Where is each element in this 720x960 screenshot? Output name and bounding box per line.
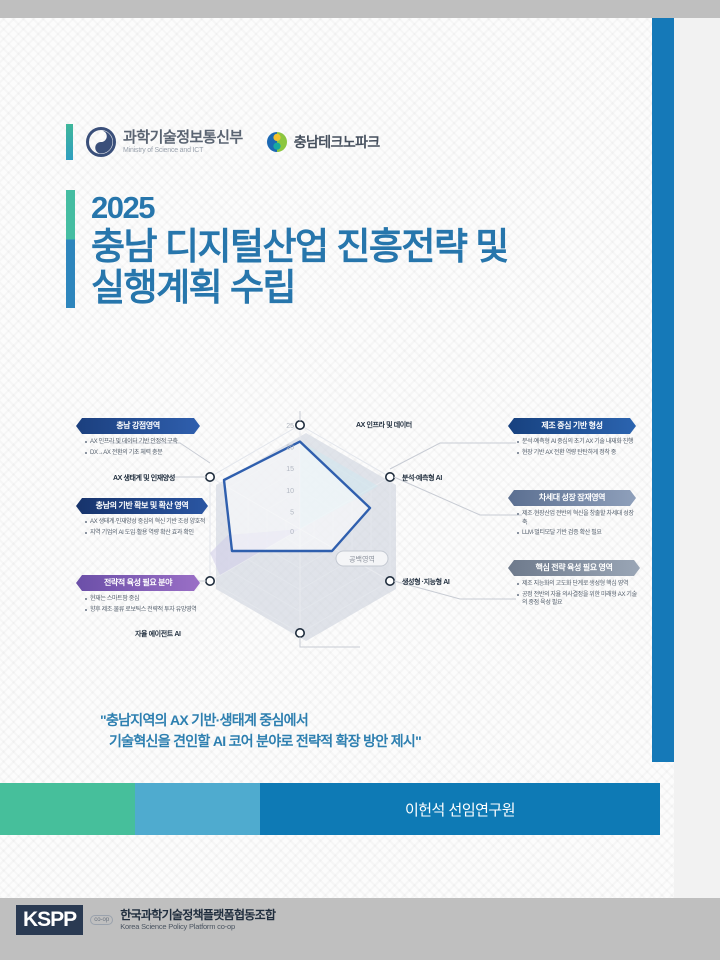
callout-bullet: 현장 기반 AX 전환 역량 탄탄하게 정착 중 (517, 449, 636, 458)
title-block: 2025 충남 디지털산업 진흥전략 및 실행계획 수립 (66, 190, 508, 308)
callout-bullet: AX 생태계·인재양성 중심의 혁신 기반 조성 양호적 (85, 518, 208, 527)
footer-band-green (0, 783, 135, 835)
radar-diagram: 25 20 15 10 5 0 (60, 403, 660, 648)
quote-line-1: "충남지역의 AX 기반·생태계 중심에서 (100, 710, 421, 731)
callout-left-strength: 충남 강점영역 AX 인프라 및 데이터 기반 안정적 구축 DX→AX 전환의… (76, 418, 200, 459)
callout-left-foundation: 충남의 기반 확보 및 확산 영역 AX 생태계·인재양성 중심의 혁신 기반 … (76, 498, 208, 539)
coop-badge: co-op (90, 915, 113, 925)
technopark-mark-icon (266, 131, 288, 153)
radar-node-ecosystem (206, 473, 214, 481)
slide-canvas: 과학기술정보통신부 Ministry of Science and ICT 충남… (0, 18, 720, 898)
key-message-quote: "충남지역의 AX 기반·생태계 중심에서 기술혁신을 견인할 AI 코어 분야… (100, 710, 421, 752)
right-margin-panel (674, 18, 720, 898)
quote-line-2: 기술혁신을 견인할 AI 코어 분야로 전략적 확장 방안 제시" (100, 731, 421, 752)
callout-bullet: DX→AX 전환의 기초 체력 충분 (85, 449, 200, 458)
right-accent-bar (652, 18, 674, 762)
callout-bullet: 향후 제조·물류 로보틱스 전략적 투자 유망영역 (85, 606, 200, 615)
ministry-name-ko: 과학기술정보통신부 (123, 130, 243, 146)
radar-label-analytic: 분석·예측형 AI (402, 473, 442, 483)
radar-label-infra: AX 인프라 및 데이터 (356, 420, 412, 430)
callout-heading: 핵심 전략 육성 필요 영역 (508, 560, 640, 576)
callout-bullet: 공정 전반의 자율 의사결정을 위한 미래형 AX 기술의 중점 육성 필요 (517, 591, 640, 608)
kspp-name-block: 한국과학기술정책플랫폼협동조합 Korea Science Policy Pla… (120, 909, 275, 931)
kspp-name-en: Korea Science Policy Platform co-op (120, 922, 275, 931)
callout-bullet: 현재는 스마트팜 중심 (85, 595, 200, 604)
title-accent-rule (66, 190, 75, 308)
radar-tick-0: 0 (290, 529, 294, 536)
radar-node-agent (296, 629, 304, 637)
callout-right-core: 핵심 전략 육성 필요 영역 제조 지능화의 고도화 단계로 생성형 핵심 영역… (508, 560, 640, 610)
partner-name: 충남테크노파크 (294, 132, 380, 152)
title-line-2: 실행계획 수립 (91, 267, 508, 308)
callout-bullet: 제조 지능화의 고도화 단계로 생성형 핵심 영역 (517, 580, 640, 589)
radar-label-generative: 생성형 ·지능형 AI (402, 577, 449, 587)
radar-tick-5: 5 (290, 509, 294, 516)
radar-node-generative (386, 577, 394, 585)
kspp-wordmark: KSPP (16, 905, 83, 935)
callout-heading: 충남 강점영역 (76, 418, 200, 434)
callout-bullets: 제조·현장산업 전반의 혁신을 창출할 차세대 성장축 LLM·멀티모달 기반 … (508, 510, 636, 538)
taeguk-icon (86, 127, 116, 157)
page-title: 2025 충남 디지털산업 진흥전략 및 실행계획 수립 (91, 190, 508, 308)
kspp-footer-logo: KSPP co-op 한국과학기술정책플랫폼협동조합 Korea Science… (16, 905, 275, 935)
callout-heading: 차세대 성장 잠재영역 (508, 490, 636, 506)
radar-tick-25: 25 (286, 423, 294, 430)
logo-row: 과학기술정보통신부 Ministry of Science and ICT 충남… (66, 124, 380, 160)
radar-tick-20: 20 (286, 445, 294, 452)
radar-gap-label: 공백영역 (349, 555, 375, 564)
presenter-name: 이헌석 선임연구원 (260, 783, 660, 835)
radar-node-infra (296, 421, 304, 429)
logo-accent-bar (66, 124, 73, 160)
title-line-1: 충남 디지털산업 진흥전략 및 (91, 226, 508, 267)
radar-label-agent: 자율 에이전트 AI (135, 629, 181, 639)
ministry-name-en: Ministry of Science and ICT (123, 147, 243, 154)
radar-tick-15: 15 (286, 466, 294, 473)
callout-heading: 제조 중심 기반 형성 (508, 418, 636, 434)
radar-gap-pill: 공백영역 (336, 551, 388, 566)
callout-heading: 충남의 기반 확보 및 확산 영역 (76, 498, 208, 514)
ministry-logo: 과학기술정보통신부 Ministry of Science and ICT (86, 127, 243, 157)
kspp-name-ko: 한국과학기술정책플랫폼협동조합 (120, 909, 275, 922)
ministry-text-block: 과학기술정보통신부 Ministry of Science and ICT (123, 130, 243, 154)
callout-bullet: 분석·예측형 AI 중심의 초기 AX 기술 내재화 진행 (517, 438, 636, 447)
radar-tick-10: 10 (286, 488, 294, 495)
callout-right-nextgen: 차세대 성장 잠재영역 제조·현장산업 전반의 혁신을 창출할 차세대 성장축 … (508, 490, 636, 540)
callout-bullet: 제조·현장산업 전반의 혁신을 창출할 차세대 성장축 (517, 510, 636, 527)
callout-bullets: AX 생태계·인재양성 중심의 혁신 기반 조성 양호적 지역 기업의 AI 도… (76, 518, 208, 537)
callout-right-manufacturing: 제조 중심 기반 형성 분석·예측형 AI 중심의 초기 AX 기술 내재화 진… (508, 418, 636, 459)
radar-node-physical (206, 577, 214, 585)
partner-logo: 충남테크노파크 (266, 131, 380, 153)
callout-bullets: 분석·예측형 AI 중심의 초기 AX 기술 내재화 진행 현장 기반 AX 전… (508, 438, 636, 457)
callout-bullets: 현재는 스마트팜 중심 향후 제조·물류 로보틱스 전략적 투자 유망영역 (76, 595, 200, 614)
callout-bullet: 지역 기업의 AI 도입·활용 역량 확산 효과 확인 (85, 529, 208, 538)
frame-top-band (0, 0, 720, 18)
callout-bullet: LLM·멀티모달 기반 검증 확산 필요 (517, 529, 636, 538)
callout-bullet: AX 인프라 및 데이터 기반 안정적 구축 (85, 438, 200, 447)
callout-bullets: AX 인프라 및 데이터 기반 안정적 구축 DX→AX 전환의 기초 체력 충… (76, 438, 200, 457)
radar-label-ecosystem: AX 생태계 및 인재양성 (113, 473, 175, 483)
callout-heading: 전략적 육성 필요 분야 (76, 575, 200, 591)
footer-band-light-blue (135, 783, 260, 835)
callout-left-strategic: 전략적 육성 필요 분야 현재는 스마트팜 중심 향후 제조·물류 로보틱스 전… (76, 575, 200, 616)
callout-bullets: 제조 지능화의 고도화 단계로 생성형 핵심 영역 공정 전반의 자율 의사결정… (508, 580, 640, 608)
radar-node-analytic (386, 473, 394, 481)
title-year: 2025 (91, 190, 508, 226)
